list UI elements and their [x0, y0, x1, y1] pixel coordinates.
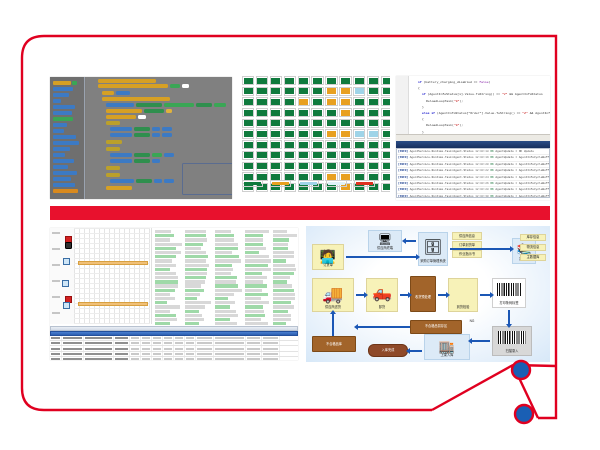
- status-cell[interactable]: [311, 97, 323, 106]
- palette-block[interactable]: [53, 147, 70, 151]
- note-line: [155, 230, 171, 233]
- flow-node-unloading[interactable]: 🛻卸货: [366, 278, 398, 312]
- status-cell[interactable]: [367, 76, 379, 85]
- status-cell[interactable]: [353, 76, 365, 85]
- status-cell[interactable]: [311, 108, 323, 117]
- code-block[interactable]: [154, 179, 162, 183]
- status-cell[interactable]: [353, 129, 365, 138]
- status-cell[interactable]: [381, 140, 390, 149]
- status-cell[interactable]: [270, 108, 282, 117]
- flow-arrow-head: [468, 338, 472, 344]
- gantt-node-marker[interactable]: [65, 242, 72, 249]
- palette-block[interactable]: [53, 99, 61, 103]
- status-cell[interactable]: [381, 162, 390, 171]
- table-cell: [185, 336, 196, 340]
- status-cell-fill: [271, 88, 280, 94]
- code-block[interactable]: [106, 147, 120, 151]
- barcode-icon: [498, 331, 525, 344]
- status-cell[interactable]: [325, 108, 337, 117]
- code-block[interactable]: [106, 121, 120, 125]
- code-block[interactable]: [164, 179, 174, 183]
- table-cell: [163, 341, 174, 345]
- status-cell-fill: [327, 78, 336, 84]
- code-block[interactable]: [110, 153, 132, 157]
- status-cell-fill: [271, 174, 280, 180]
- status-cell[interactable]: [242, 151, 254, 160]
- status-cell-fill: [369, 142, 378, 148]
- status-cell-fill: [299, 152, 308, 158]
- console-output[interactable]: [INFO] AgentService.Runtime.Task/Agent.S…: [396, 148, 550, 198]
- blocks-palette[interactable]: [50, 77, 85, 199]
- flow-node-order-list-3[interactable]: 作业指示书: [452, 250, 482, 258]
- flow-node-icon: 🗄: [423, 240, 442, 255]
- status-cell[interactable]: [284, 108, 296, 117]
- status-cell[interactable]: [298, 151, 310, 160]
- status-cell-fill: [244, 163, 253, 169]
- status-cell[interactable]: [325, 76, 337, 85]
- status-cell[interactable]: [270, 151, 282, 160]
- code-block[interactable]: [102, 97, 170, 101]
- palette-block[interactable]: [53, 183, 75, 187]
- palette-block[interactable]: [53, 105, 75, 109]
- note-line: [245, 280, 263, 283]
- palette-block[interactable]: [53, 129, 64, 133]
- status-cell[interactable]: [381, 119, 390, 128]
- status-cell[interactable]: [311, 140, 323, 149]
- table-cell: [214, 352, 246, 356]
- status-cell[interactable]: [298, 119, 310, 128]
- status-cell[interactable]: [311, 119, 323, 128]
- note-line: [245, 243, 263, 246]
- status-cell[interactable]: [242, 108, 254, 117]
- code-block[interactable]: [106, 103, 134, 107]
- code-block[interactable]: [116, 91, 130, 95]
- table-cell: [84, 336, 114, 340]
- note-line: [155, 322, 170, 325]
- flow-node-inbound-done[interactable]: 入库完成: [368, 344, 408, 357]
- gantt-gridline-h: [74, 243, 150, 244]
- code-block[interactable]: [152, 127, 160, 131]
- console-log-row[interactable]: [INFO] AgentService.Runtime.Task/Agent.S…: [397, 194, 549, 198]
- status-cell-fill: [299, 163, 308, 169]
- palette-block[interactable]: [53, 123, 67, 127]
- legend-swatch-red: [354, 180, 375, 187]
- code-block[interactable]: [98, 84, 168, 88]
- status-cell[interactable]: [256, 119, 268, 128]
- status-cell[interactable]: [284, 97, 296, 106]
- status-cell[interactable]: [325, 151, 337, 160]
- status-cell[interactable]: [367, 119, 379, 128]
- status-cell-fill: [299, 131, 308, 137]
- code-block[interactable]: [196, 103, 212, 107]
- gantt-task-bar[interactable]: [78, 302, 148, 306]
- code-block[interactable]: [102, 91, 114, 95]
- flow-node-erp-2[interactable]: 物流信息: [520, 244, 546, 251]
- status-cell[interactable]: [311, 162, 323, 171]
- flow-node-label: 上架入库: [425, 354, 469, 358]
- flow-arrow: [346, 256, 416, 258]
- code-block[interactable]: [166, 109, 172, 113]
- status-cell-fill: [285, 99, 294, 105]
- note-line: [245, 310, 264, 313]
- palette-block[interactable]: [53, 117, 73, 121]
- status-cell-fill: [327, 110, 336, 116]
- status-cell[interactable]: [325, 140, 337, 149]
- status-cell[interactable]: [325, 119, 337, 128]
- table-cell: [214, 341, 246, 345]
- status-cell[interactable]: [325, 129, 337, 138]
- status-cell[interactable]: [339, 151, 351, 160]
- status-cell[interactable]: [367, 108, 379, 117]
- status-cell[interactable]: [381, 151, 390, 160]
- status-cell-fill: [313, 99, 322, 105]
- code-block[interactable]: [164, 103, 194, 107]
- note-line: [185, 230, 206, 233]
- status-cell[interactable]: [353, 151, 365, 160]
- status-cell[interactable]: [339, 119, 351, 128]
- note-line: [273, 234, 297, 237]
- status-cell[interactable]: [256, 140, 268, 149]
- code-block[interactable]: [106, 140, 122, 144]
- screenshot-code-editor[interactable]: if (battery_charging_disabled == false){…: [396, 76, 550, 200]
- note-line: [185, 318, 204, 321]
- legend-swatch-orange: [270, 180, 291, 187]
- status-cell[interactable]: [270, 87, 282, 96]
- status-cell[interactable]: [311, 87, 323, 96]
- status-cell-fill: [369, 78, 378, 84]
- palette-block[interactable]: [53, 111, 72, 115]
- status-cell[interactable]: [242, 87, 254, 96]
- flow-node-receiving-desk[interactable]: 收货预处理: [410, 276, 436, 312]
- status-cell-fill: [285, 152, 294, 158]
- gantt-gridline-h: [74, 228, 150, 229]
- flow-node-putaway[interactable]: 🏬上架入库: [424, 334, 470, 360]
- sheet-sidebar[interactable]: [50, 228, 75, 324]
- code-block[interactable]: [162, 127, 172, 131]
- status-cell[interactable]: [339, 97, 351, 106]
- status-cell[interactable]: [284, 129, 296, 138]
- status-cell[interactable]: [284, 119, 296, 128]
- flow-node-quality-check[interactable]: 到货检验: [448, 278, 478, 312]
- flow-node-icon: 🧑‍💻: [320, 250, 336, 263]
- table-cell: [246, 357, 262, 360]
- note-column: [273, 230, 297, 331]
- note-line: [245, 297, 261, 300]
- flow-node-delivery-truck[interactable]: 🚚供应商送货: [312, 278, 354, 312]
- screenshot-status-grid[interactable]: [240, 74, 390, 202]
- status-cell[interactable]: [270, 140, 282, 149]
- status-cell[interactable]: [270, 119, 282, 128]
- table-row[interactable]: [50, 357, 298, 360]
- code-block[interactable]: [110, 179, 134, 183]
- palette-block[interactable]: [53, 81, 71, 85]
- status-cell-fill: [271, 152, 280, 158]
- status-cell[interactable]: [325, 97, 337, 106]
- status-cell[interactable]: [325, 162, 337, 171]
- status-cell[interactable]: [242, 97, 254, 106]
- status-cell[interactable]: [381, 76, 390, 85]
- status-cell[interactable]: [270, 162, 282, 171]
- status-cell[interactable]: [381, 129, 390, 138]
- flow-arrow-head: [510, 246, 514, 252]
- status-cell[interactable]: [270, 129, 282, 138]
- status-cell[interactable]: [270, 76, 282, 85]
- gantt-gridline-h: [74, 298, 150, 299]
- palette-block[interactable]: [53, 159, 74, 163]
- status-cell[interactable]: [298, 76, 310, 85]
- status-cell[interactable]: [367, 162, 379, 171]
- status-cell-fill: [369, 131, 378, 137]
- note-line: [215, 234, 234, 237]
- status-cell[interactable]: [339, 108, 351, 117]
- status-cell[interactable]: [339, 129, 351, 138]
- note-line: [273, 238, 289, 241]
- status-cell-fill: [383, 184, 391, 190]
- status-cell[interactable]: [256, 129, 268, 138]
- code-block[interactable]: [152, 133, 160, 137]
- table-cell: [262, 336, 280, 340]
- flow-node-customer-order[interactable]: 🧑‍💻订货单: [312, 244, 344, 270]
- status-cell-fill: [271, 142, 280, 148]
- flow-arrow-head: [406, 348, 410, 354]
- palette-block[interactable]: [53, 177, 71, 181]
- code-block[interactable]: [134, 159, 150, 163]
- code-block[interactable]: [106, 186, 132, 190]
- flow-node-erp-1[interactable]: 库存信息: [520, 234, 546, 241]
- code-block[interactable]: [110, 133, 132, 137]
- status-cell-fill: [355, 88, 364, 94]
- status-cell[interactable]: [284, 76, 296, 85]
- code-block[interactable]: [138, 115, 146, 119]
- flow-arrow: [406, 240, 416, 242]
- status-cell[interactable]: [242, 76, 254, 85]
- flow-node-supplier-terminal[interactable]: 🖥供应商终端: [368, 230, 402, 252]
- status-cell[interactable]: [339, 140, 351, 149]
- code-block[interactable]: [182, 163, 232, 195]
- screenshot-schedule-sheet[interactable]: [50, 228, 298, 360]
- status-cell[interactable]: [256, 76, 268, 85]
- note-line: [245, 322, 268, 325]
- blocks-canvas[interactable]: [86, 77, 232, 199]
- status-cell[interactable]: [256, 87, 268, 96]
- status-cell[interactable]: [256, 151, 268, 160]
- status-cell[interactable]: [284, 140, 296, 149]
- status-cell-fill: [299, 78, 308, 84]
- status-cell[interactable]: [381, 172, 390, 181]
- status-cell[interactable]: [339, 162, 351, 171]
- status-cell-fill: [369, 152, 378, 158]
- status-cell[interactable]: [339, 87, 351, 96]
- flow-node-ng-mark[interactable]: NG: [466, 316, 478, 324]
- note-line: [155, 280, 178, 283]
- flow-arrow: [508, 310, 510, 324]
- status-cell[interactable]: [367, 140, 379, 149]
- status-cell-fill: [299, 174, 308, 180]
- gantt-node-marker[interactable]: [62, 280, 69, 287]
- palette-block[interactable]: [72, 81, 77, 85]
- status-cell[interactable]: [284, 87, 296, 96]
- palette-block[interactable]: [53, 189, 78, 193]
- note-line: [215, 297, 228, 300]
- screenshot-logistics-flow[interactable]: 🖥供应商终端🧑‍💻订货单🗄采购订单管理系统供应商信息订单到货单作业指示书📚数据库…: [306, 226, 550, 362]
- code-block[interactable]: [134, 127, 150, 131]
- status-cell-fill: [355, 163, 364, 169]
- status-grid-cells[interactable]: [242, 76, 390, 192]
- flow-node-erp-3[interactable]: 主数据库: [520, 254, 546, 261]
- code-block[interactable]: [106, 115, 136, 119]
- status-cell[interactable]: [353, 108, 365, 117]
- note-line: [155, 243, 182, 246]
- accent-circle-lower: [515, 405, 533, 423]
- status-cell[interactable]: [367, 151, 379, 160]
- note-column: [155, 230, 182, 331]
- note-line: [155, 276, 178, 279]
- status-cell-fill: [285, 131, 294, 137]
- flow-node-scan-in[interactable]: 扫描录入: [492, 326, 532, 356]
- note-line: [185, 293, 200, 296]
- status-cell[interactable]: [367, 97, 379, 106]
- flow-node-defect-area[interactable]: 不合格品暂存区: [410, 320, 462, 334]
- palette-block[interactable]: [53, 141, 79, 145]
- status-cell[interactable]: [298, 87, 310, 96]
- status-cell[interactable]: [298, 162, 310, 171]
- status-cell[interactable]: [311, 129, 323, 138]
- code-block[interactable]: [214, 103, 226, 107]
- status-cell[interactable]: [298, 140, 310, 149]
- table-cell: [62, 341, 84, 345]
- gantt-chart[interactable]: [74, 228, 150, 324]
- status-cell[interactable]: [256, 162, 268, 171]
- note-line: [155, 305, 180, 308]
- flow-arrow: [410, 350, 422, 352]
- status-cell[interactable]: [242, 140, 254, 149]
- status-cell[interactable]: [353, 140, 365, 149]
- data-table[interactable]: [50, 326, 298, 360]
- status-cell[interactable]: [353, 97, 365, 106]
- note-line: [245, 251, 259, 254]
- status-cell-fill: [271, 131, 280, 137]
- status-cell[interactable]: [381, 97, 390, 106]
- flow-arrow-head: [402, 238, 406, 244]
- code-block[interactable]: [134, 133, 150, 137]
- status-cell[interactable]: [284, 151, 296, 160]
- code-block[interactable]: [152, 159, 160, 163]
- status-cell[interactable]: [298, 97, 310, 106]
- status-cell[interactable]: [381, 87, 390, 96]
- status-cell[interactable]: [339, 76, 351, 85]
- table-cell: [174, 336, 185, 340]
- table-cell: [185, 352, 196, 356]
- status-cell-fill: [355, 120, 364, 126]
- code-block[interactable]: [110, 127, 132, 131]
- status-cell[interactable]: [242, 129, 254, 138]
- red-divider-banner: [50, 206, 550, 220]
- status-cell-fill: [244, 120, 253, 126]
- status-cell[interactable]: [367, 87, 379, 96]
- status-cell[interactable]: [353, 162, 365, 171]
- status-cell[interactable]: [381, 183, 390, 192]
- status-cell[interactable]: [256, 108, 268, 117]
- palette-block[interactable]: [53, 87, 73, 91]
- status-cell[interactable]: [367, 129, 379, 138]
- flow-node-order-list-1[interactable]: 供应商信息: [452, 232, 482, 240]
- palette-block[interactable]: [53, 135, 76, 139]
- table-cell: [214, 336, 246, 340]
- flow-node-defect-warehouse[interactable]: 不合格品库: [312, 336, 356, 352]
- status-cell[interactable]: [381, 108, 390, 117]
- status-cell-fill: [271, 163, 280, 169]
- code-block[interactable]: [110, 159, 132, 163]
- table-cell: [152, 341, 163, 345]
- note-line: [273, 255, 294, 258]
- status-cell[interactable]: [298, 108, 310, 117]
- code-block[interactable]: [106, 109, 142, 113]
- status-cell[interactable]: [256, 97, 268, 106]
- note-line: [215, 280, 236, 283]
- code-block[interactable]: [106, 173, 120, 177]
- flow-arrow: [480, 294, 490, 296]
- palette-block[interactable]: [53, 153, 65, 157]
- status-cell[interactable]: [353, 87, 365, 96]
- table-cell: [130, 336, 141, 340]
- frame-path-diag-1: [432, 365, 513, 410]
- code-block[interactable]: [98, 79, 156, 83]
- code-block[interactable]: [144, 109, 164, 113]
- status-cell[interactable]: [242, 119, 254, 128]
- code-block[interactable]: [162, 133, 172, 137]
- status-cell[interactable]: [311, 151, 323, 160]
- palette-block[interactable]: [53, 93, 69, 97]
- status-cell[interactable]: [311, 76, 323, 85]
- code-block[interactable]: [136, 103, 162, 107]
- status-cell[interactable]: [242, 162, 254, 171]
- status-cell[interactable]: [270, 97, 282, 106]
- note-line: [185, 301, 211, 304]
- status-cell-fill: [271, 110, 280, 116]
- status-cell[interactable]: [284, 162, 296, 171]
- gantt-node-marker[interactable]: [63, 302, 70, 309]
- status-cell[interactable]: [298, 129, 310, 138]
- code-block[interactable]: [152, 153, 162, 157]
- status-cell-fill: [369, 174, 378, 180]
- status-cell-fill: [299, 110, 308, 116]
- flow-node-barcode-print[interactable]: 打印条码标签: [492, 278, 526, 308]
- flow-node-order-system[interactable]: 🗄采购订单管理系统: [418, 232, 448, 266]
- code-block[interactable]: [136, 179, 152, 183]
- flow-node-icon: 🛻: [372, 286, 392, 302]
- legend-swatch-fill: [244, 182, 262, 186]
- status-cell[interactable]: [353, 119, 365, 128]
- code-block[interactable]: [170, 84, 180, 88]
- note-line: [215, 276, 237, 279]
- table-cell: [246, 346, 262, 350]
- code-block[interactable]: [134, 153, 150, 157]
- status-cell[interactable]: [325, 87, 337, 96]
- gantt-node-marker[interactable]: [63, 258, 70, 265]
- code-block[interactable]: [182, 84, 189, 88]
- code-block[interactable]: [164, 153, 174, 157]
- table-cell: [262, 352, 280, 356]
- code-block[interactable]: [106, 166, 120, 170]
- status-cell-fill: [313, 142, 322, 148]
- console-header: [396, 141, 550, 148]
- code-text-area[interactable]: if (battery_charging_disabled == false){…: [396, 76, 550, 134]
- palette-block[interactable]: [53, 171, 77, 175]
- gantt-task-bar[interactable]: [78, 261, 148, 265]
- table-cell: [196, 341, 214, 345]
- palette-block[interactable]: [53, 165, 68, 169]
- screenshot-blocks-editor[interactable]: [50, 77, 232, 199]
